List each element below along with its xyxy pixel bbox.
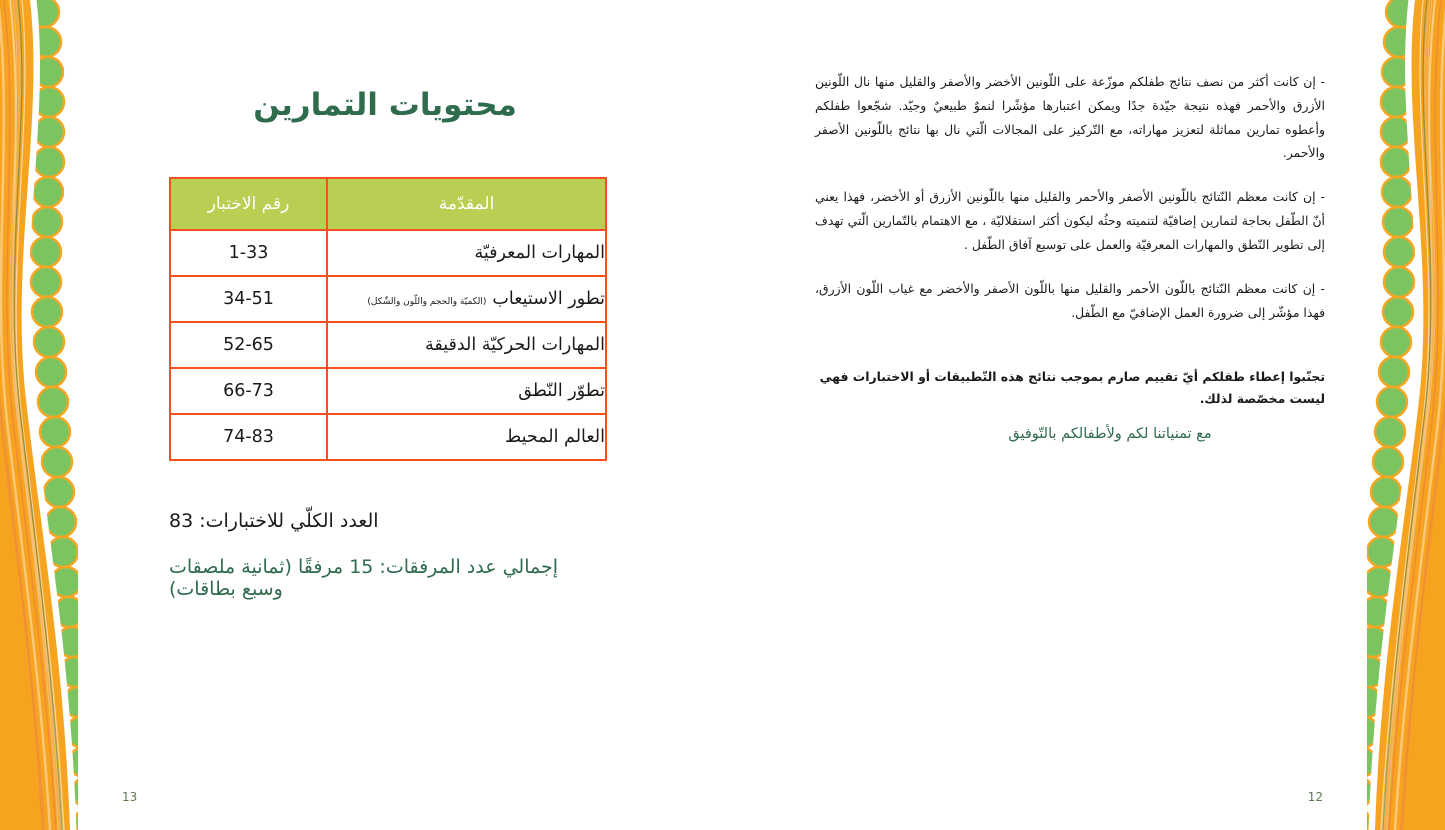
decorative-border-left [0, 0, 78, 830]
cell-section-name: العالم المحيط [327, 414, 606, 460]
note-paragraph-3: - إن كانت معظم النّتائج باللّون الأحمر و… [815, 277, 1325, 325]
border-pattern-right-svg [1367, 0, 1445, 830]
interpretation-notes: - إن كانت أكثر من نصف نتائج طفلكم موزّعة… [815, 70, 1325, 344]
total-tests-line: العدد الكلّي للاختبارات: 83 [169, 510, 601, 532]
border-green-line-right [1377, 0, 1425, 830]
border-white-gap-left [22, 0, 70, 830]
total-attachments-line: إجمالي عدد المرفقات: 15 مرفقًا (ثمانية م… [169, 556, 601, 600]
note-paragraph-2: - إن كانت معظم النّتائج باللّونين الأصفر… [815, 185, 1325, 256]
table-row: العالم المحيط 74-83 [170, 414, 606, 460]
contents-table: المقدّمة رقم الاختبار المهارات المعرفيّة… [169, 177, 607, 461]
orange-band-right [1367, 0, 1445, 830]
page-number-right: 12 [1308, 790, 1323, 804]
cell-section-name: المهارات الحركيّة الدقيقة [327, 322, 606, 368]
column-header-section: المقدّمة [327, 178, 606, 230]
page-number-left: 13 [122, 790, 137, 804]
closing-block: تجنّبوا إعطاء طفلكم أيّ تقييم صارم بموجب… [815, 366, 1325, 446]
section-title: المهارات المعرفيّة [475, 243, 606, 263]
cell-test-range: 1-33 [170, 230, 327, 276]
table-row: المهارات المعرفيّة 1-33 [170, 230, 606, 276]
cell-section-name: المهارات المعرفيّة [327, 230, 606, 276]
closing-wish: مع تمنياتنا لكم ولأطفالكم بالتّوفيق [815, 423, 1325, 446]
table-row: تطوّر النّطق 66-73 [170, 368, 606, 414]
table-row: المهارات الحركيّة الدقيقة 52-65 [170, 322, 606, 368]
cell-test-range: 74-83 [170, 414, 327, 460]
border-pattern-left-svg [0, 0, 78, 830]
section-title: العالم المحيط [505, 427, 605, 447]
page-title: محتويات التمارين [170, 85, 600, 125]
cell-section-name: تطور الاستيعاب(الكميّة والحجم واللّون وا… [327, 276, 606, 322]
page-root: محتويات التمارين المقدّمة رقم الاختبار ا… [0, 0, 1445, 830]
section-title: تطوّر النّطق [518, 381, 605, 401]
border-green-line-left [20, 0, 68, 830]
contents-table-body: المهارات المعرفيّة 1-33 تطور الاستيعاب(ا… [170, 230, 606, 460]
contents-table-head: المقدّمة رقم الاختبار [170, 178, 606, 230]
column-header-number: رقم الاختبار [170, 178, 327, 230]
note-paragraph-1: - إن كانت أكثر من نصف نتائج طفلكم موزّعة… [815, 70, 1325, 165]
decorative-border-right [1367, 0, 1445, 830]
cell-test-range: 34-51 [170, 276, 327, 322]
cell-section-name: تطوّر النّطق [327, 368, 606, 414]
section-title: المهارات الحركيّة الدقيقة [425, 335, 605, 355]
border-white-gap-right [1375, 0, 1423, 830]
scallop-column-right [1367, 0, 1416, 830]
cell-test-range: 52-65 [170, 322, 327, 368]
cell-test-range: 66-73 [170, 368, 327, 414]
table-header-row: المقدّمة رقم الاختبار [170, 178, 606, 230]
section-title: تطور الاستيعاب [492, 289, 605, 309]
table-row: تطور الاستيعاب(الكميّة والحجم واللّون وا… [170, 276, 606, 322]
closing-warning: تجنّبوا إعطاء طفلكم أيّ تقييم صارم بموجب… [815, 366, 1325, 411]
scallop-column-left [29, 0, 78, 830]
orange-band-left [0, 0, 78, 830]
section-note: (الكميّة والحجم واللّون والشّكل) [367, 297, 486, 307]
